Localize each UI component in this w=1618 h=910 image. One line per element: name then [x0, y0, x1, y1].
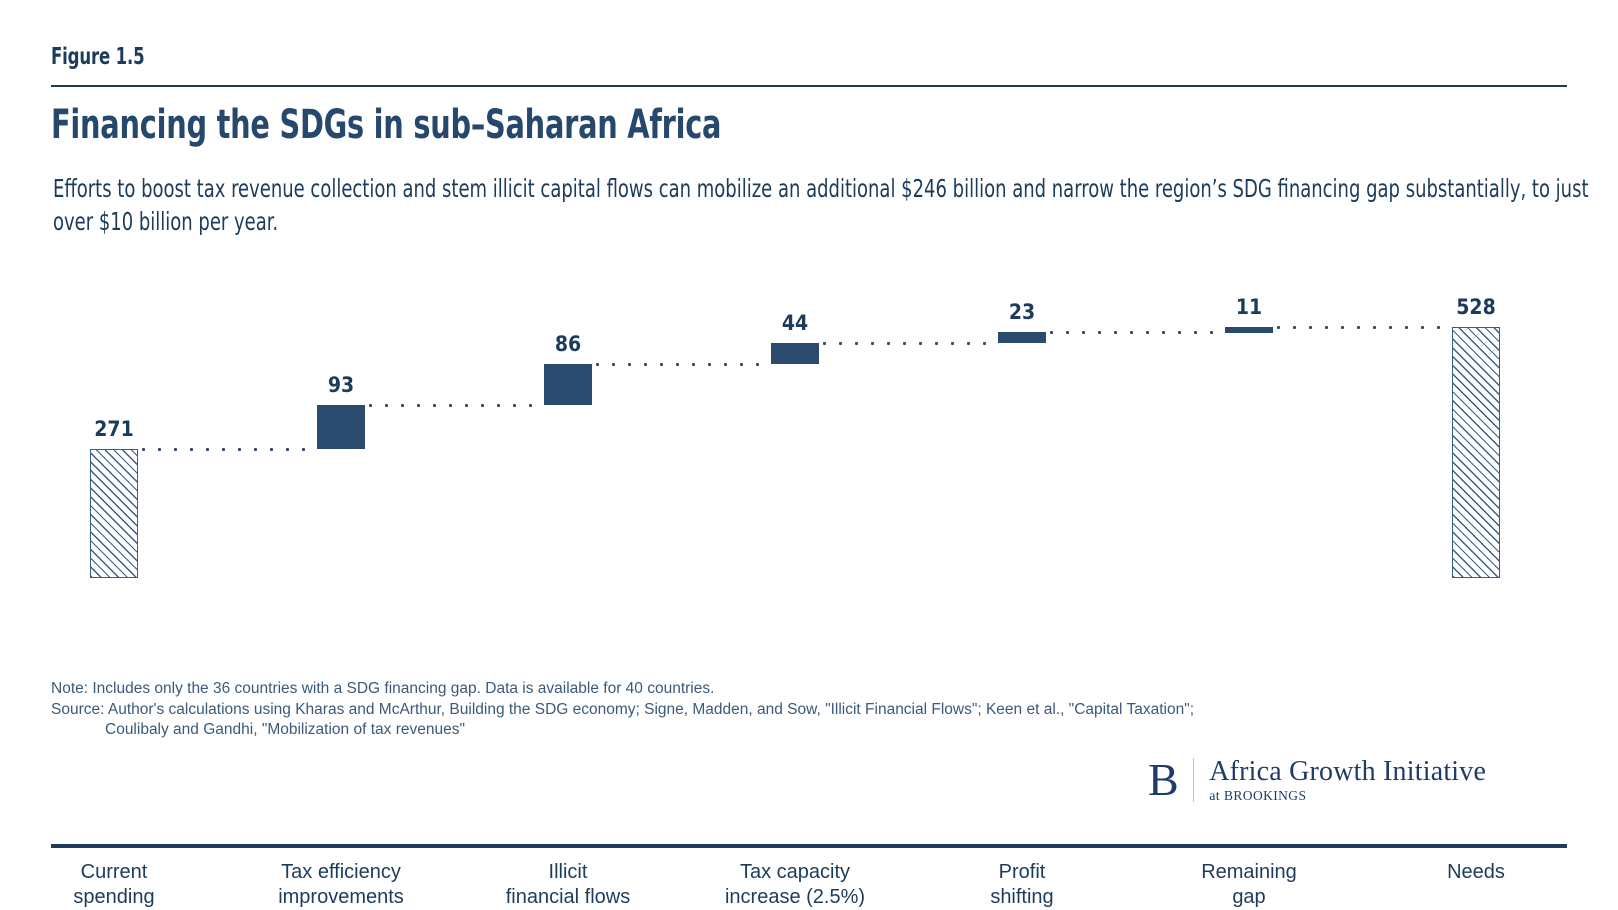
page-title: Financing the SDGs in sub–Saharan Africa	[51, 103, 721, 147]
source-line-1: Source: Author's calculations using Khar…	[51, 700, 1194, 721]
bar-value-label: 528	[1416, 295, 1536, 319]
connector-line	[1050, 331, 1225, 334]
bar-value-label: 93	[281, 373, 401, 397]
x-axis-label: Profit shifting	[912, 860, 1132, 910]
figure-notes: Note: Includes only the 36 countries wit…	[51, 679, 1194, 741]
logo-initiative-name: Africa Growth Initiative	[1209, 756, 1486, 787]
bar-current-spending	[90, 449, 138, 578]
brookings-b-mark: B	[1148, 757, 1193, 803]
connector-line	[596, 363, 771, 366]
bar-value-label: 86	[508, 332, 628, 356]
bar-value-label: 23	[962, 300, 1082, 324]
x-axis-label: Tax capacity increase (2.5%)	[685, 860, 905, 910]
header-divider	[51, 85, 1567, 87]
x-axis-label: Needs	[1366, 860, 1586, 885]
bar-value-label: 11	[1189, 295, 1309, 319]
plot-area: 2719386442311528	[51, 266, 1567, 579]
logo-affiliation: at BROOKINGS	[1209, 787, 1486, 805]
connector-line	[823, 342, 998, 345]
note-line: Note: Includes only the 36 countries wit…	[51, 679, 1194, 700]
bar-taxcapacity-increase25	[771, 343, 819, 364]
bar-value-label: 271	[54, 417, 174, 441]
bar-value-label: 44	[735, 311, 855, 335]
bar-remaining-gap	[1225, 327, 1273, 333]
logo-affiliation-prefix: at	[1209, 789, 1224, 804]
bar-taxefficiency-improvements	[317, 405, 365, 449]
bar-profit-shifting	[998, 332, 1046, 343]
source-line-2: Coulibaly and Gandhi, "Mobilization of t…	[51, 720, 1194, 741]
connector-line	[142, 448, 317, 451]
x-axis-line	[51, 844, 1567, 848]
logo-text: Africa Growth Initiative at BROOKINGS	[1209, 756, 1486, 805]
page-subtitle: Efforts to boost tax revenue collection …	[53, 172, 1613, 238]
figure-page: Figure 1.5 Financing the SDGs in sub–Sah…	[0, 0, 1618, 866]
x-axis-label: Current spending	[4, 860, 224, 910]
logo-divider	[1193, 758, 1195, 802]
connector-line	[1277, 326, 1452, 329]
waterfall-chart: 2719386442311528 Current spendingTax eff…	[51, 266, 1567, 586]
figure-number: Figure 1.5	[51, 44, 145, 70]
x-axis-label: Tax efficiency improvements	[231, 860, 451, 910]
logo-affiliation-brookings: BROOKINGS	[1224, 788, 1306, 803]
connector-line	[369, 404, 544, 407]
bar-needs	[1452, 327, 1500, 578]
x-axis-label: Illicit financial flows	[458, 860, 678, 910]
brookings-agi-logo: B Africa Growth Initiative at BROOKINGS	[1148, 752, 1486, 808]
x-axis-label: Remaining gap	[1139, 860, 1359, 910]
bar-illicit-financialflows	[544, 364, 592, 405]
